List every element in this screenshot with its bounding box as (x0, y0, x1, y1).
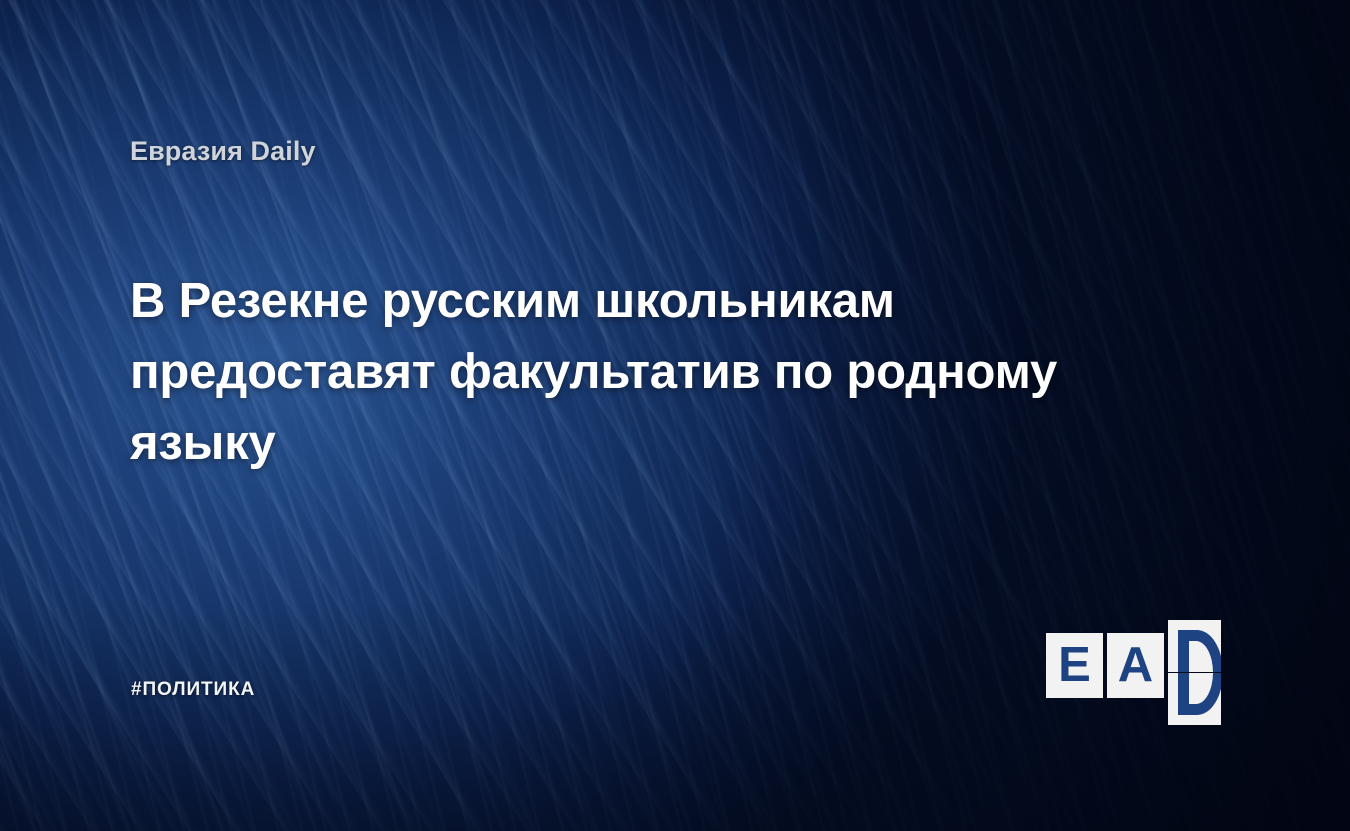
logo-tile-a-icon: A (1107, 633, 1164, 698)
brand-name: Евразия Daily (130, 136, 316, 167)
eadaily-logo: E A (1046, 620, 1221, 706)
card-content: Евразия Daily В Резекне русским школьник… (0, 0, 1350, 831)
logo-letter-d-upper-half (1168, 620, 1221, 672)
news-card: Евразия Daily В Резекне русским школьник… (0, 0, 1350, 831)
category-tag: #ПОЛИТИКА (131, 679, 255, 701)
logo-letter-d-lower-half (1168, 673, 1221, 725)
logo-tile-e-icon: E (1046, 633, 1103, 698)
logo-letter-a: A (1107, 633, 1164, 698)
logo-letter-e: E (1046, 633, 1103, 698)
headline: В Резекне русским школьникам предоставят… (130, 266, 1190, 479)
